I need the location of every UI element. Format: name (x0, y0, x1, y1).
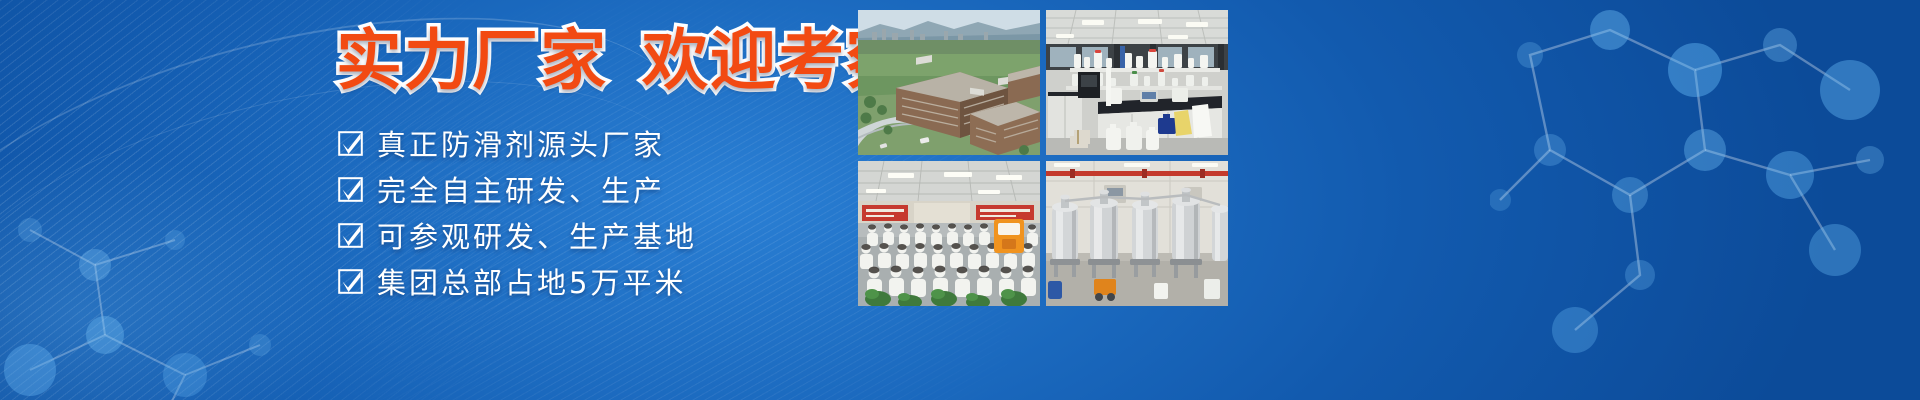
promo-banner: 实力厂家欢迎考察 真正防滑剂源头厂家 完全自主研发、生产 (0, 0, 1920, 400)
list-item-label: 真正防滑剂源头厂家 (377, 122, 665, 164)
list-item: 真正防滑剂源头厂家 (338, 122, 697, 164)
list-item: 可参观研发、生产基地 (338, 214, 697, 256)
list-item-label: 集团总部占地5万平米 (377, 260, 686, 302)
molecule-structure-icon-right (1490, 0, 1920, 400)
laboratory-interior-photo (1046, 10, 1228, 155)
production-floor-workers-photo (858, 161, 1040, 306)
checkbox-checked-icon (338, 269, 363, 294)
list-item-label: 可参观研发、生产基地 (377, 214, 697, 256)
aerial-factory-campus-photo (858, 10, 1040, 155)
headline-part-1: 实力厂家 (336, 22, 608, 99)
list-item: 集团总部占地5万平米 (338, 260, 697, 302)
checkbox-checked-icon (338, 177, 363, 202)
headline: 实力厂家欢迎考察 (336, 28, 914, 94)
reactor-equipment-room-photo (1046, 161, 1228, 306)
list-item-label: 完全自主研发、生产 (377, 168, 665, 210)
checkbox-checked-icon (338, 223, 363, 248)
photo-grid (858, 10, 1228, 306)
feature-bullet-list: 真正防滑剂源头厂家 完全自主研发、生产 可参观研发、生产基地 (338, 122, 697, 306)
list-item: 完全自主研发、生产 (338, 168, 697, 210)
checkbox-checked-icon (338, 131, 363, 156)
